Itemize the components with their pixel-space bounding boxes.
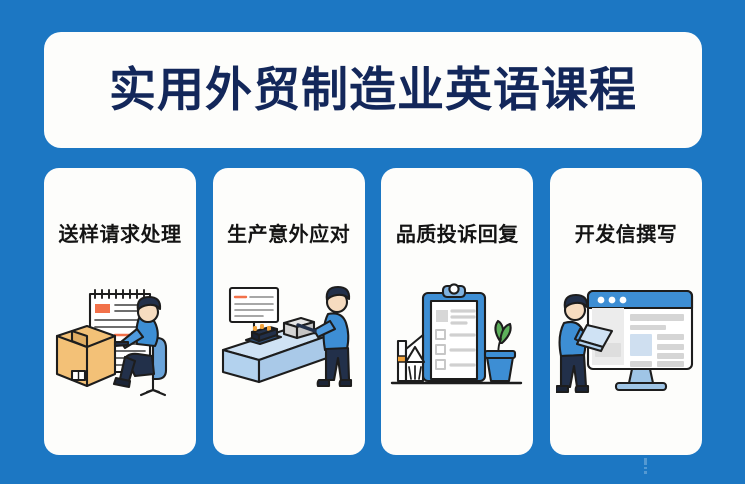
- title-card: 实用外贸制造业英语课程: [44, 32, 702, 148]
- outreach-letter-svg: [556, 277, 696, 399]
- feature-card-sample-request[interactable]: 送样请求处理: [44, 168, 196, 455]
- poster-canvas: 实用外贸制造业英语课程 送样请求处理: [0, 0, 745, 484]
- card-title: 开发信撰写: [550, 218, 702, 247]
- page-title: 实用外贸制造业英语课程: [109, 67, 637, 114]
- card-title: 品质投诉回复: [381, 218, 533, 247]
- card-title: 生产意外应对: [213, 218, 365, 247]
- feature-card-row: 送样请求处理: [44, 168, 702, 455]
- card-title: 送样请求处理: [44, 218, 196, 247]
- outreach-letter-illustration: [550, 268, 702, 408]
- sample-request-illustration: [44, 268, 196, 408]
- feature-card-production-incident[interactable]: 生产意外应对: [213, 168, 365, 455]
- feature-card-quality-complaint[interactable]: 品质投诉回复: [381, 168, 533, 455]
- sample-request-svg: [53, 274, 187, 402]
- production-incident-illustration: [213, 268, 365, 408]
- production-incident-svg: [219, 276, 359, 400]
- text-cursor-artifact: [644, 458, 647, 474]
- quality-complaint-svg: [390, 277, 524, 399]
- feature-card-outreach-letter[interactable]: 开发信撰写: [550, 168, 702, 455]
- quality-complaint-illustration: [381, 268, 533, 408]
